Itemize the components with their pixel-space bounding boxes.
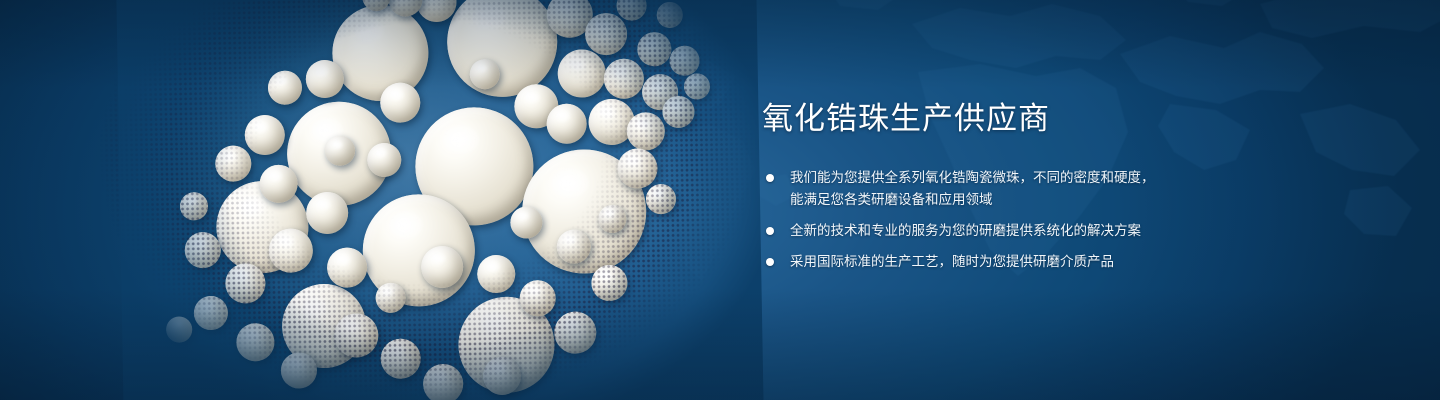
bullet-item-2: 全新的技术和专业的服务为您的研磨提供系统化的解决方案	[760, 220, 1230, 242]
bullet-text-line2: 能满足您各类研磨设备和应用领域	[790, 189, 1230, 211]
banner-content: 氧化锆珠生产供应商 我们能为您提供全系列氧化锆陶瓷微珠，不同的密度和硬度， 能满…	[760, 100, 1230, 282]
bullet-item-3: 采用国际标准的生产工艺，随时为您提供研磨介质产品	[760, 251, 1230, 273]
banner-bullet-list: 我们能为您提供全系列氧化锆陶瓷微珠，不同的密度和硬度， 能满足您各类研磨设备和应…	[760, 167, 1230, 273]
bullet-text-line1: 全新的技术和专业的服务为您的研磨提供系统化的解决方案	[790, 223, 1141, 238]
bullet-text-line1: 我们能为您提供全系列氧化锆陶瓷微珠，不同的密度和硬度，	[790, 170, 1155, 185]
banner-title: 氧化锆珠生产供应商	[762, 100, 1230, 137]
bullet-dot-icon	[766, 174, 774, 182]
hero-banner: 氧化锆珠生产供应商 我们能为您提供全系列氧化锆陶瓷微珠，不同的密度和硬度， 能满…	[0, 0, 1440, 400]
bullet-dot-icon	[766, 227, 774, 235]
bullet-dot-icon	[766, 258, 774, 266]
bullet-text-line1: 采用国际标准的生产工艺，随时为您提供研磨介质产品	[790, 254, 1114, 269]
bullet-item-1: 我们能为您提供全系列氧化锆陶瓷微珠，不同的密度和硬度， 能满足您各类研磨设备和应…	[760, 167, 1230, 211]
